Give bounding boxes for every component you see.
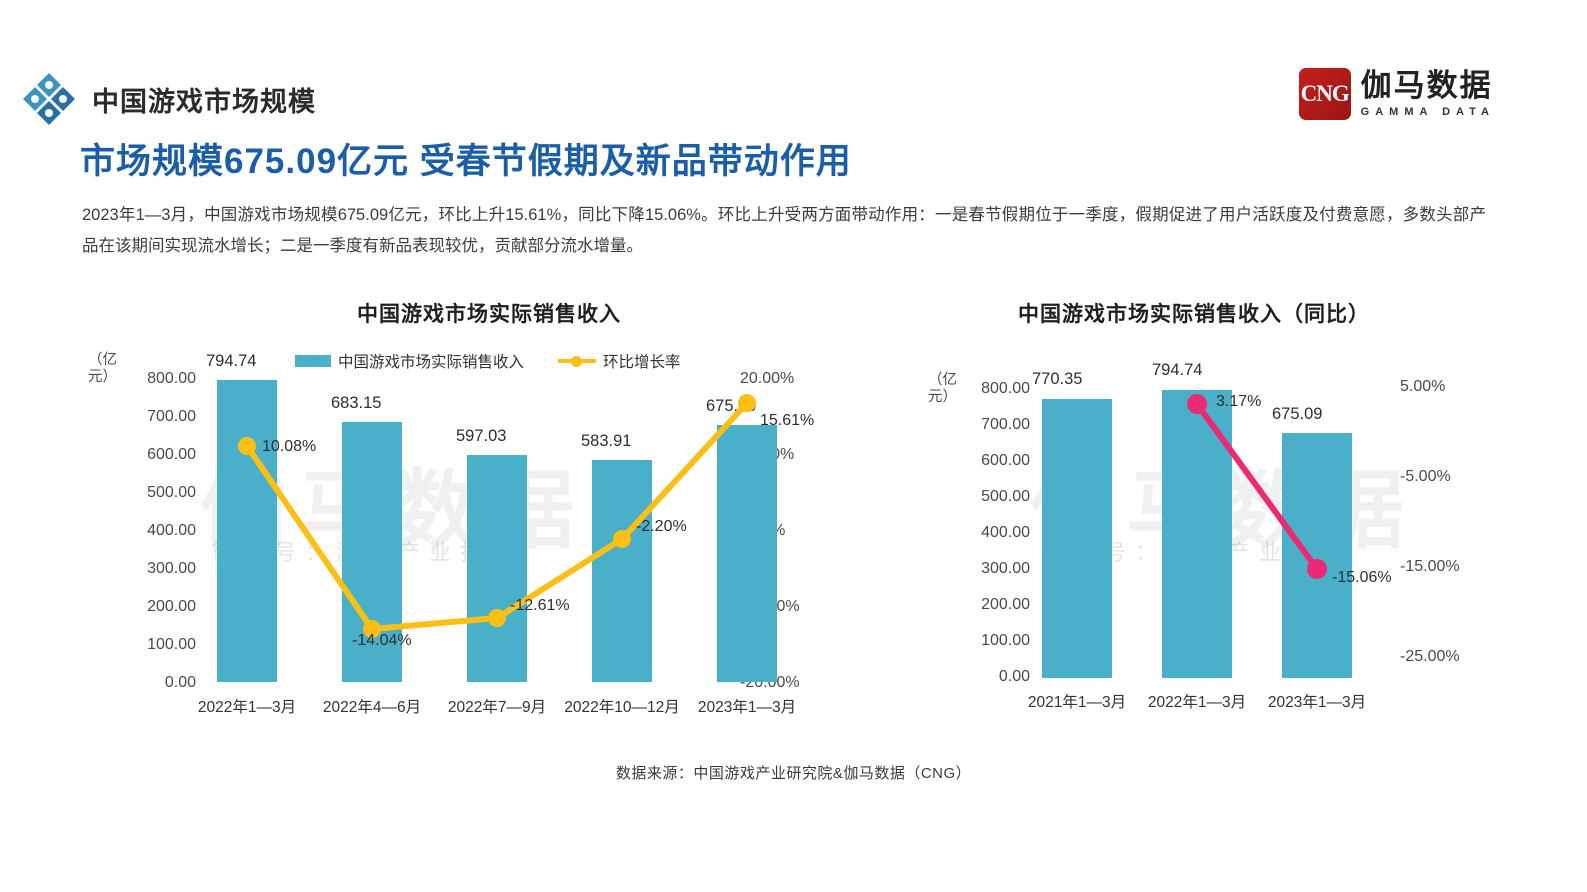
header-brand-title: 中国游戏市场规模 [92, 80, 316, 119]
line-label-2023q1: 15.61% [760, 412, 814, 430]
cng-badge-text: CNG [1301, 81, 1349, 107]
gamma-data-logo: CNG 伽马数据 GAMMA DATA [1299, 68, 1495, 120]
summary-paragraph: 2023年1—3月，中国游戏市场规模675.09亿元，环比上升15.61%，同比… [82, 200, 1486, 262]
yoy-label-2022q1: 3.17% [1216, 393, 1261, 411]
cng-badge-icon: CNG [1299, 68, 1351, 120]
logo-en-text: GAMMA DATA [1361, 106, 1495, 118]
chart-title-right: 中国游戏市场实际销售收入（同比） [1018, 298, 1370, 328]
yoy-growth-line [920, 330, 1500, 700]
line-label-2022q3: -12.61% [510, 597, 570, 615]
line-dot-2022q4[interactable] [613, 530, 631, 548]
yoy-label-2023q1: -15.06% [1332, 569, 1392, 587]
line-label-2022q4: -2.20% [636, 518, 687, 536]
gamepad-dpad-icon [20, 70, 78, 128]
chart-left: 伽马数据 微信号：游戏产业报告 （亿元） 中国游戏市场实际销售收入 环比增长率 … [80, 330, 880, 700]
chart-title-left: 中国游戏市场实际销售收入 [357, 298, 621, 328]
yoy-dot-2023q1[interactable] [1307, 559, 1327, 579]
line-label-2022q2: -14.04% [352, 632, 412, 650]
logo-cn-text: 伽马数据 [1361, 70, 1495, 101]
line-dot-2023q1[interactable] [738, 394, 756, 412]
xtick-2023q1-yoy: 2023年1—3月 [1242, 690, 1392, 712]
xtick-2023q1: 2023年1—3月 [672, 695, 822, 717]
chart-right: 伽马数据 微信号：游戏产业报告 （亿元） 800.00 700.00 600.0… [920, 330, 1500, 700]
yoy-dot-2022q1[interactable] [1187, 394, 1207, 414]
line-dot-2022q1[interactable] [238, 437, 256, 455]
source-note: 数据来源：中国游戏产业研究院&伽马数据（CNG） [0, 762, 1587, 783]
line-label-2022q1: 10.08% [262, 438, 316, 456]
slide-root: 中国游戏市场规模 CNG 伽马数据 GAMMA DATA 市场规模675.09亿… [0, 0, 1587, 892]
header-brand: 中国游戏市场规模 [20, 70, 316, 128]
page-headline: 市场规模675.09亿元 受春节假期及新品带动作用 [80, 133, 852, 184]
mom-growth-line [80, 330, 880, 700]
line-dot-2022q3[interactable] [488, 609, 506, 627]
